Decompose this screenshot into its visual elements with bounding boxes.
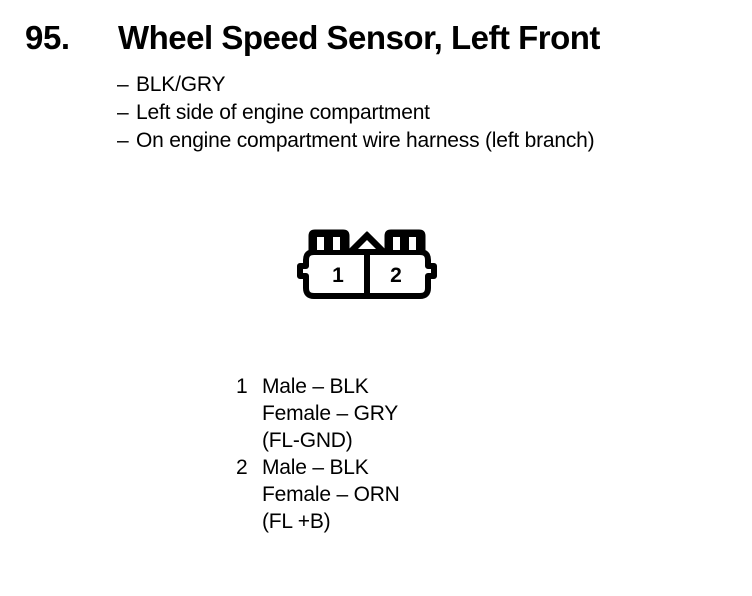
pin-legend-line: Female – GRY (262, 400, 536, 427)
pin-legend-number: 2 (236, 454, 262, 481)
detail-list-item: – On engine compartment wire harness (le… (117, 127, 737, 155)
page-title: Wheel Speed Sensor, Left Front (118, 18, 600, 58)
connector-right-tab-slot-a (393, 237, 400, 250)
pin-legend-lines: Male – BLK Female – GRY (FL-GND) (262, 373, 536, 454)
detail-list-item-label: Left side of engine compartment (136, 99, 430, 127)
pin-legend-entry: 1 Male – BLK Female – GRY (FL-GND) (236, 373, 536, 454)
connector-right-tab-slot-b (409, 237, 416, 250)
pin-legend-entry: 2 Male – BLK Female – ORN (FL +B) (236, 454, 536, 535)
detail-list-item: – Left side of engine compartment (117, 99, 737, 127)
detail-list: – BLK/GRY – Left side of engine compartm… (117, 71, 737, 155)
pin-legend: 1 Male – BLK Female – GRY (FL-GND) 2 Mal… (236, 373, 536, 535)
pin-legend-line: Male – BLK (262, 373, 536, 400)
dash-icon: – (117, 71, 136, 99)
dash-icon: – (117, 127, 136, 155)
connector-cavity-label-2: 2 (390, 264, 402, 287)
dash-icon: – (117, 99, 136, 127)
connector-outline-svg: 1 2 (292, 222, 442, 306)
pin-legend-line: (FL-GND) (262, 427, 536, 454)
connector-left-tab (310, 231, 348, 252)
pin-legend-lines: Male – BLK Female – ORN (FL +B) (262, 454, 536, 535)
detail-list-item-label: On engine compartment wire harness (left… (136, 127, 594, 155)
connector-diagram: 1 2 (292, 222, 442, 306)
page-header: 95. Wheel Speed Sensor, Left Front (0, 18, 752, 62)
detail-list-item-label: BLK/GRY (136, 71, 225, 99)
pin-legend-line: Male – BLK (262, 454, 536, 481)
pin-legend-line: (FL +B) (262, 508, 536, 535)
connector-left-tab-slot-a (317, 237, 324, 250)
entry-number: 95. (25, 18, 70, 58)
connector-left-tab-slot-b (333, 237, 340, 250)
detail-list-item: – BLK/GRY (117, 71, 737, 99)
connector-cavity-divider (364, 252, 370, 296)
pin-legend-line: Female – ORN (262, 481, 536, 508)
pin-legend-number: 1 (236, 373, 262, 400)
connector-right-tab (386, 231, 424, 252)
connector-cavity-label-1: 1 (332, 264, 344, 287)
